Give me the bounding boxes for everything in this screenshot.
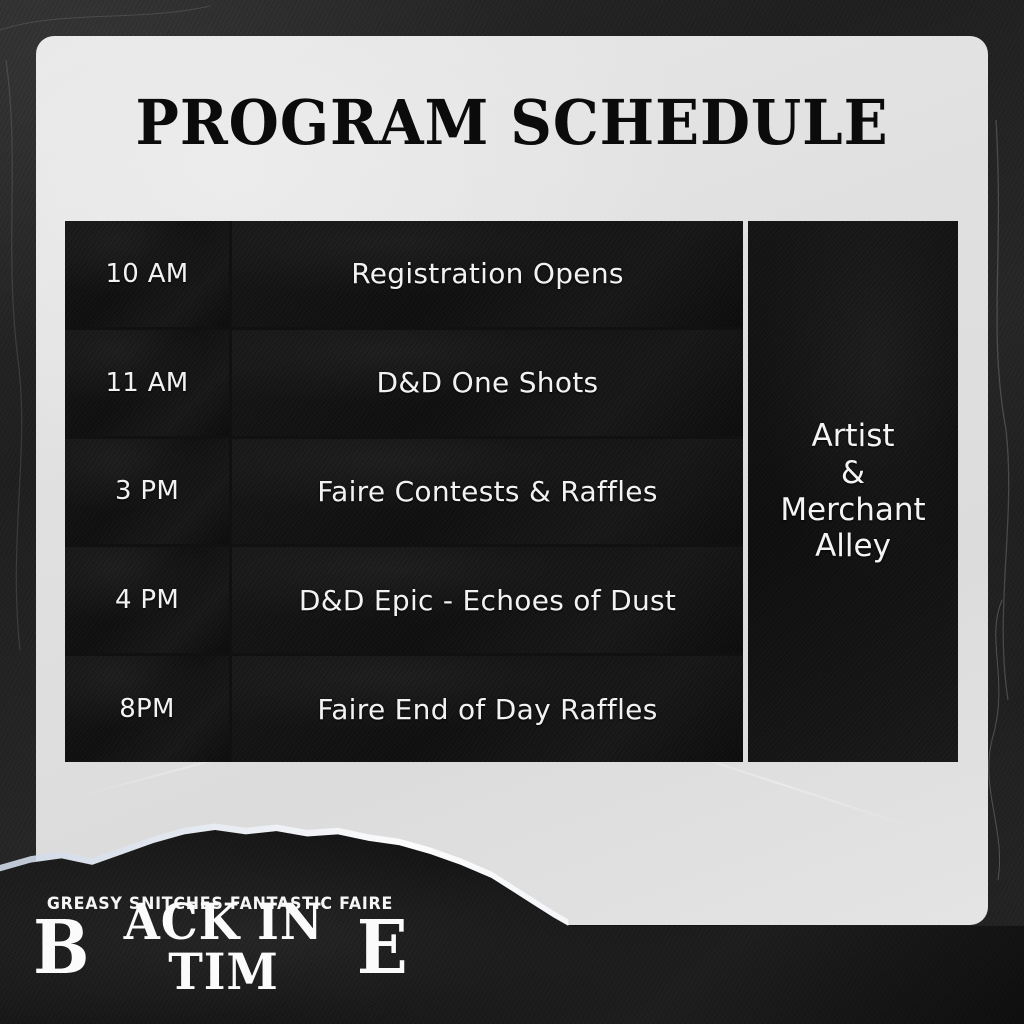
alley-line-4: Alley — [780, 528, 925, 565]
schedule-time-cell: 3 PM — [65, 439, 229, 545]
table-row: 3 PM Faire Contests & Raffles — [65, 439, 743, 545]
logo-middle-text: ACK IN TIM — [102, 897, 345, 1000]
schedule-event-cell: D&D One Shots — [232, 330, 743, 436]
artist-merchant-alley-panel: Artist & Merchant Alley — [748, 221, 958, 762]
schedule-time-cell: 8PM — [65, 656, 229, 762]
schedule-time-cell: 11 AM — [65, 330, 229, 436]
schedule-event-cell: D&D Epic - Echoes of Dust — [232, 547, 743, 653]
alley-line-2: & — [780, 455, 925, 492]
schedule-time-label: 11 AM — [105, 368, 188, 398]
schedule-time-label: 8PM — [119, 694, 175, 724]
logo-drop-cap-b: B — [33, 911, 89, 985]
schedule-time-cell: 10 AM — [65, 221, 229, 327]
schedule-table: 10 AM Registration Opens 11 AM D&D One S… — [65, 221, 743, 762]
schedule-time-label: 3 PM — [115, 476, 179, 506]
artist-merchant-alley-text: Artist & Merchant Alley — [780, 418, 925, 564]
schedule-event-cell: Registration Opens — [232, 221, 743, 327]
schedule-event-label: D&D Epic - Echoes of Dust — [299, 584, 676, 617]
schedule-event-label: D&D One Shots — [377, 366, 599, 399]
alley-line-3: Merchant — [780, 492, 925, 529]
schedule-time-label: 10 AM — [105, 259, 188, 289]
logo-drop-cap-e: E — [356, 911, 407, 985]
schedule-time-label: 4 PM — [115, 585, 179, 615]
schedule-event-cell: Faire End of Day Raffles — [232, 656, 743, 762]
schedule-time-cell: 4 PM — [65, 547, 229, 653]
table-row: 8PM Faire End of Day Raffles — [65, 656, 743, 762]
table-row: 11 AM D&D One Shots — [65, 330, 743, 436]
schedule-event-label: Registration Opens — [351, 257, 624, 290]
bottom-banner: GREASY SNITCHES FANTASTIC FAIRE B ACK IN… — [0, 806, 1024, 1024]
event-logo: GREASY SNITCHES FANTASTIC FAIRE B ACK IN… — [30, 894, 410, 981]
alley-line-1: Artist — [780, 418, 925, 455]
logo-wordmark: B ACK IN TIM E — [30, 915, 410, 981]
table-row: 10 AM Registration Opens — [65, 221, 743, 327]
page-title: PROGRAM SCHEDULE — [36, 86, 988, 159]
schedule-event-label: Faire End of Day Raffles — [317, 693, 657, 726]
schedule-event-cell: Faire Contests & Raffles — [232, 439, 743, 545]
table-row: 4 PM D&D Epic - Echoes of Dust — [65, 547, 743, 653]
poster-canvas: PROGRAM SCHEDULE 10 AM Registration Open… — [0, 0, 1024, 1024]
schedule-event-label: Faire Contests & Raffles — [317, 475, 657, 508]
